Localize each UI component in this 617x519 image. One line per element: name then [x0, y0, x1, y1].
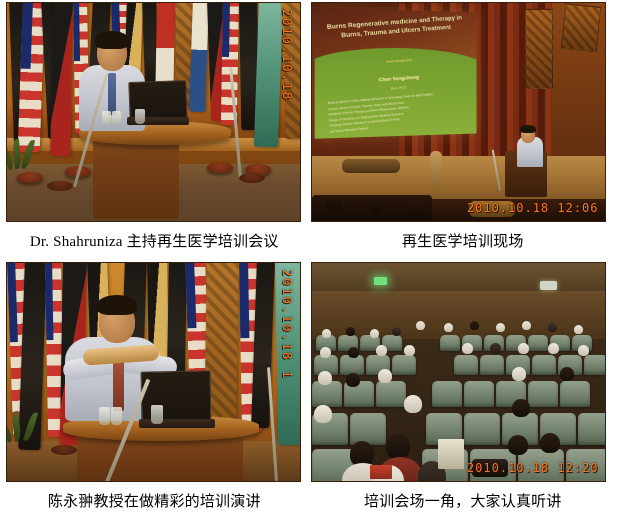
flag-12	[189, 3, 209, 112]
caption-bottom-left: 陈永翀教授在做精彩的培训演讲	[0, 482, 309, 519]
attendee	[512, 399, 530, 417]
potted-plant	[7, 361, 37, 441]
photo-top-left-scene: 2010.10.18	[7, 3, 300, 221]
seat	[464, 413, 500, 445]
attendee	[490, 343, 501, 354]
seat	[584, 355, 605, 375]
drinking-glass	[111, 407, 122, 425]
drinking-glass	[151, 405, 163, 424]
flag-14	[221, 3, 239, 125]
attendee	[548, 343, 559, 354]
microphone-base-left	[47, 181, 73, 191]
stage-flag-4	[571, 90, 583, 164]
seat	[376, 381, 406, 407]
professor-hair	[97, 295, 137, 315]
attendee	[574, 325, 583, 334]
photo-gallery-page: 2010.10.18 Dr. Shahruniza 主持再生医学培训会议 Bur	[0, 0, 617, 512]
flower-arrangement-right	[469, 201, 515, 217]
attendee	[470, 321, 479, 330]
photo-grid: 2010.10.18 Dr. Shahruniza 主持再生医学培训会议 Bur	[0, 0, 617, 519]
attendee	[318, 371, 332, 385]
seat	[464, 381, 494, 407]
attendee	[322, 329, 331, 338]
attendee	[376, 345, 387, 356]
stage-flag-3	[557, 90, 569, 164]
attendee	[320, 347, 331, 358]
seat	[566, 449, 605, 481]
flag-4	[50, 3, 73, 156]
photo-cell-top-right: Burns Regenerative medicine and Therapy …	[309, 0, 617, 260]
seat	[528, 335, 548, 351]
seat	[440, 335, 460, 351]
flower-arrangement	[342, 159, 400, 173]
attendee	[512, 367, 526, 381]
speaker-tie	[108, 73, 116, 115]
wall-art-panel-1	[525, 9, 553, 89]
front-audience-heads	[408, 199, 424, 215]
plant-leaf	[23, 411, 38, 442]
flag-17	[281, 3, 300, 138]
projection-screen: Burns Regenerative medicine and Therapy …	[315, 7, 477, 139]
attendee	[462, 343, 473, 354]
photo-bottom-right[interactable]: 2010.10.18 12:20	[311, 262, 606, 482]
photo-cell-bottom-right: 2010.10.18 12:20 培训会场一角，大家认真听讲	[309, 260, 617, 519]
attendee	[348, 347, 359, 358]
photo-bottom-left[interactable]: 2010.10.18 1	[6, 262, 301, 482]
attendee	[518, 343, 529, 354]
attendee	[314, 405, 332, 423]
attendee	[416, 321, 425, 330]
photo-top-left[interactable]: 2010.10.18	[6, 2, 301, 222]
seat	[528, 381, 558, 407]
seat	[480, 355, 504, 375]
wall-art-panel-2	[560, 3, 601, 53]
attendee	[496, 323, 505, 332]
seat	[432, 381, 462, 407]
attendee	[560, 367, 574, 381]
attendee	[578, 345, 589, 356]
caption-top-right: 再生医学培训现场	[309, 222, 617, 260]
potted-plant	[7, 99, 33, 169]
seat	[560, 381, 590, 407]
photo-cell-bottom-left: 2010.10.18 1 陈永翀教授在做精彩的培训演讲	[0, 260, 309, 519]
photo-top-right[interactable]: Burns Regenerative medicine and Therapy …	[311, 2, 606, 222]
flag-13	[275, 263, 300, 446]
caption-bottom-right: 培训会场一角，大家认真听讲	[309, 482, 617, 519]
photo-cell-top-left: 2010.10.18 Dr. Shahruniza 主持再生医学培训会议	[0, 0, 309, 260]
photo-top-right-scene: Burns Regenerative medicine and Therapy …	[312, 3, 605, 221]
brochure	[438, 439, 464, 469]
attendee	[346, 327, 355, 336]
plant-leaf	[12, 139, 22, 170]
front-audience-heads	[368, 197, 384, 213]
brochure	[370, 465, 392, 479]
attendee	[508, 435, 528, 455]
stage-speaker-hair	[520, 125, 536, 133]
attendee	[404, 345, 415, 356]
attendee	[404, 395, 422, 413]
seat	[532, 355, 556, 375]
seat	[454, 355, 478, 375]
handbag	[472, 459, 508, 477]
attendee	[346, 373, 360, 387]
drinking-glass	[102, 111, 111, 125]
podium-body	[93, 137, 179, 219]
microphone-base-right	[239, 173, 265, 183]
attendee	[378, 369, 392, 383]
attendee	[548, 323, 557, 332]
attendee-foreground	[386, 433, 410, 459]
microphone-base-left	[51, 445, 77, 455]
front-audience-heads	[326, 195, 342, 211]
drinking-glass	[135, 109, 145, 124]
flag-base-1	[17, 172, 43, 183]
seat	[578, 413, 605, 445]
flag-16	[254, 3, 283, 147]
attendee	[392, 327, 401, 336]
stage-flag-5	[585, 90, 597, 164]
photo-bottom-right-scene: 2010.10.18 12:20	[312, 263, 605, 481]
drinking-glass	[112, 111, 121, 125]
attendee	[370, 329, 379, 338]
flag-base-3	[207, 162, 233, 173]
stage-attendant	[430, 151, 442, 185]
photo-bottom-left-scene: 2010.10.18 1	[7, 263, 300, 481]
seat	[392, 355, 416, 375]
attendee	[540, 433, 560, 453]
speaker-hair	[95, 31, 129, 49]
caption-top-left: Dr. Shahruniza 主持再生医学培训会议	[0, 222, 309, 260]
plant-leaf	[11, 410, 22, 441]
attendee	[444, 323, 453, 332]
seat	[340, 355, 364, 375]
drinking-glass	[99, 407, 110, 425]
attendee	[522, 321, 531, 330]
